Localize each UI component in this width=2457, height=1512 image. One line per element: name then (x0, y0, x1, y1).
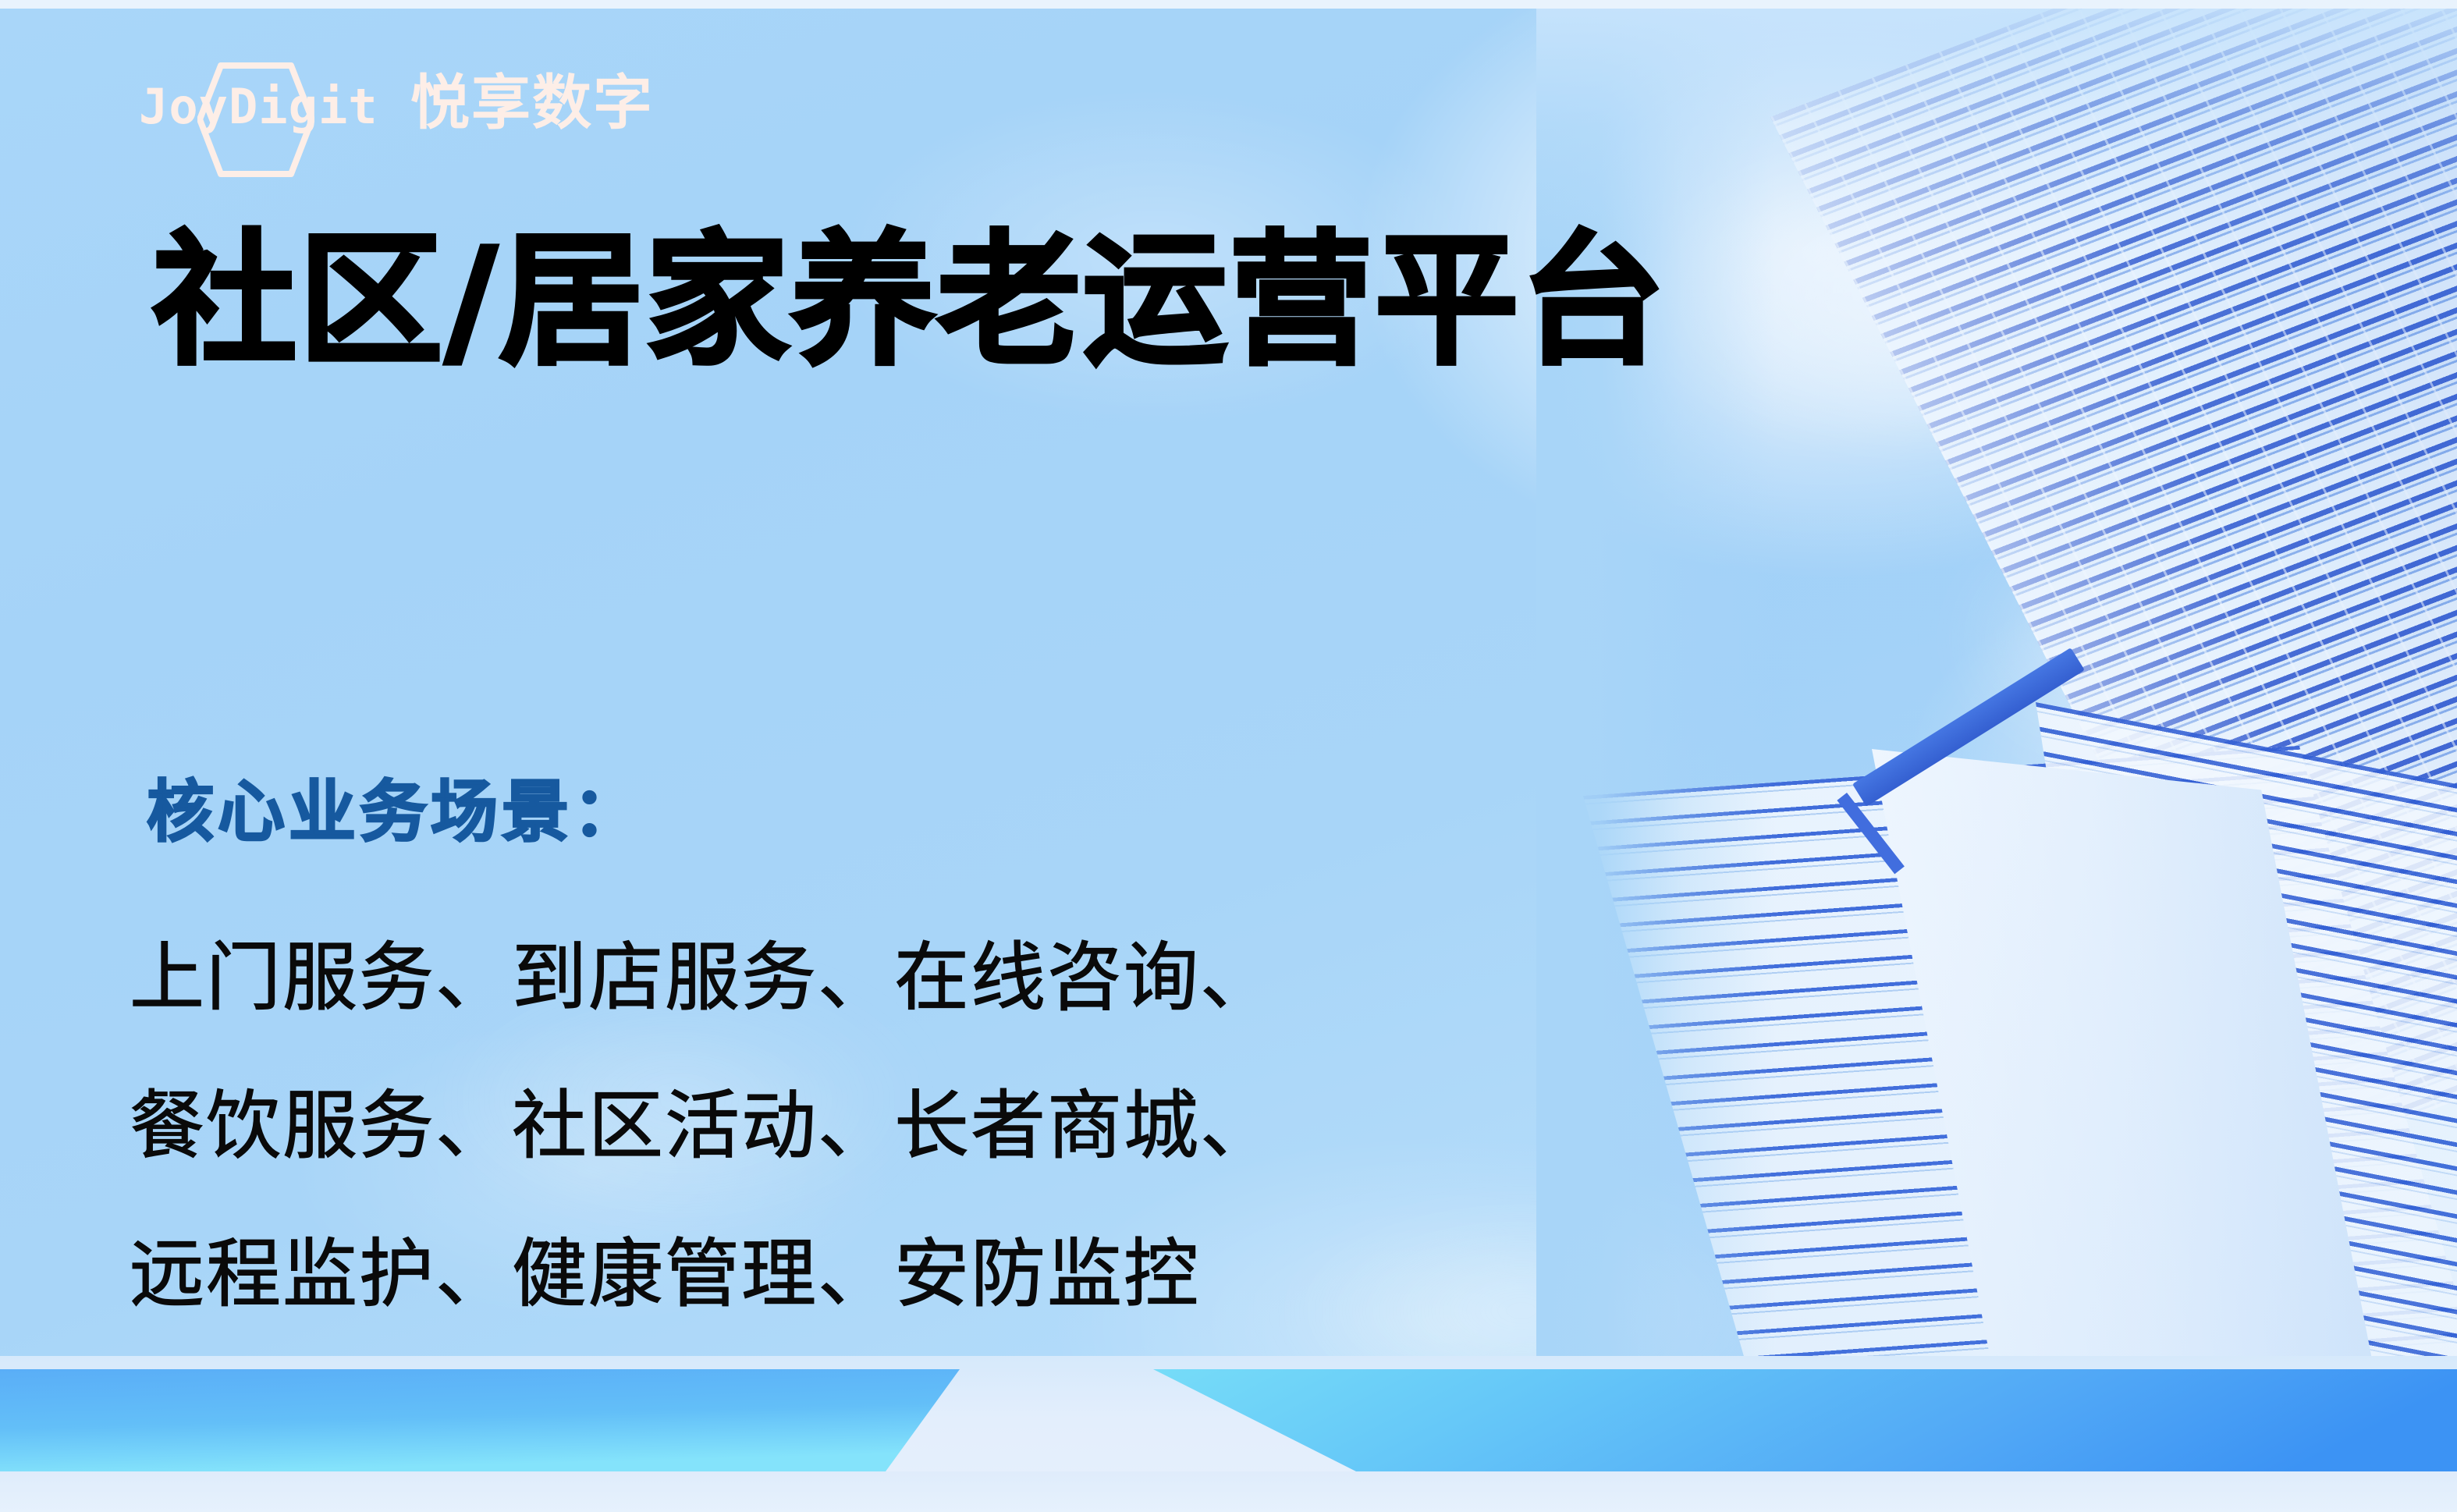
scenario-line: 远程监护、健康管理、安防监控 (130, 1200, 1612, 1348)
logo-wordmark: JoyDigit (139, 83, 378, 131)
top-edge-strip (0, 0, 2457, 9)
logo-chinese-name: 悦享数字 (410, 73, 654, 133)
section-subheading: 核心业务场景： (147, 772, 644, 853)
slide-canvas: JoyDigit 悦享数字 社区/居家养老运营平台 核心业务场景： 上门服务、到… (0, 0, 2457, 1512)
footer-decoration (0, 1356, 2457, 1512)
brand-logo: JoyDigit 悦享数字 (139, 75, 685, 162)
footer-bottom-strip (0, 1471, 2457, 1512)
scenario-line: 餐饮服务、社区活动、长者商城、 (130, 1052, 1612, 1200)
skyscraper-building-photo (1536, 0, 2457, 1397)
scenario-line: 上门服务、到店服务、在线咨询、 (130, 903, 1612, 1052)
footer-diagonal-band (0, 1369, 2457, 1471)
photo-top-fade (1536, 0, 2457, 1397)
page-title: 社区/居家养老运营平台 (153, 222, 1667, 380)
scenario-list: 上门服务、到店服务、在线咨询、 餐饮服务、社区活动、长者商城、 远程监护、健康管… (130, 903, 1612, 1348)
